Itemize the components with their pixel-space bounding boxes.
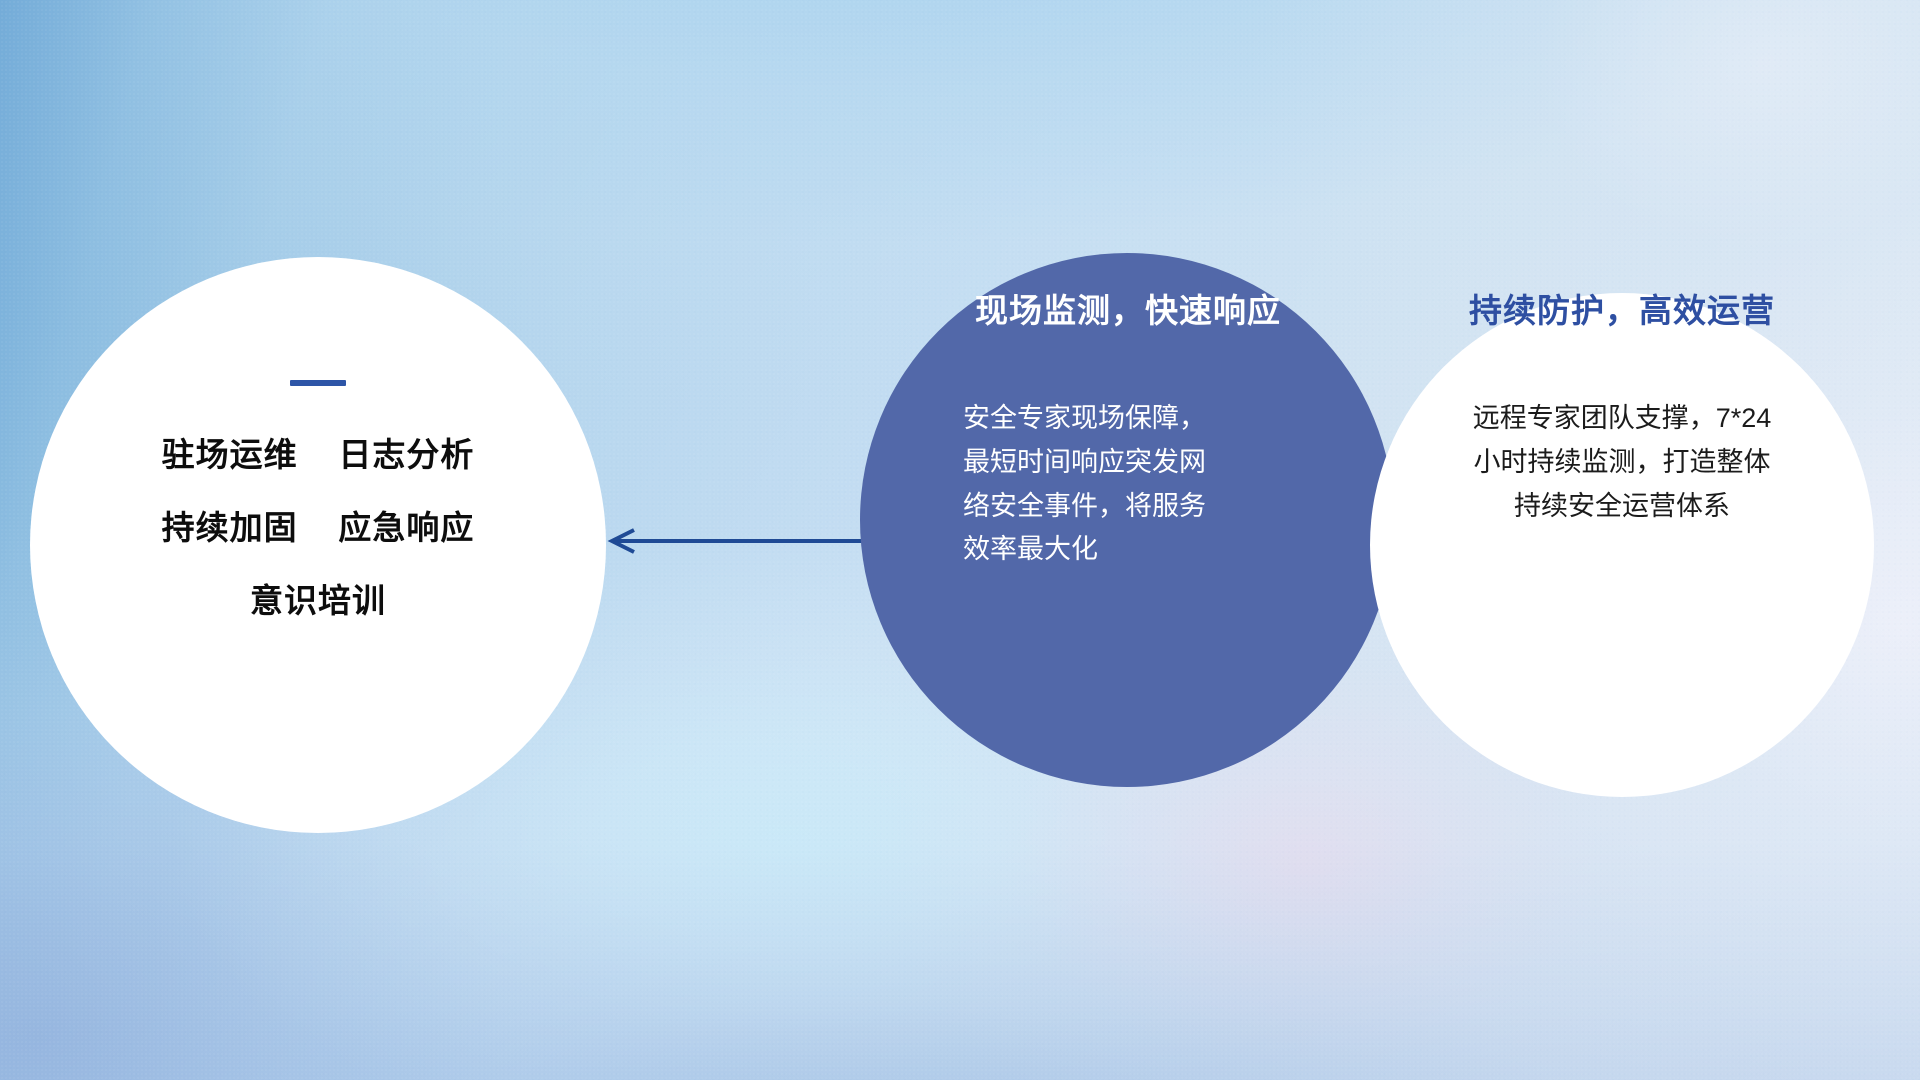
arrow-icon xyxy=(600,528,870,554)
left-pointing-arrow xyxy=(600,528,870,554)
right-body-line-3: 持续安全运营体系 xyxy=(1434,485,1810,529)
capability-line-1: 驻场运维 日志分析 xyxy=(30,438,606,471)
middle-body-line-1: 安全专家现场保障， xyxy=(963,397,1293,441)
right-body-line-2: 小时持续监测，打造整体 xyxy=(1434,441,1810,485)
right-circle-body: 远程专家团队支撑，7*24 小时持续监测，打造整体 持续安全运营体系 xyxy=(1434,397,1810,528)
middle-body-line-2: 最短时间响应突发网 xyxy=(963,441,1293,485)
middle-circle-title: 现场监测，快速响应 xyxy=(888,290,1368,331)
middle-body-line-4: 效率最大化 xyxy=(963,528,1293,572)
middle-circle-content: 现场监测，快速响应 安全专家现场保障， 最短时间响应突发网 络安全事件，将服务 … xyxy=(888,290,1368,572)
blue-dash-divider-icon xyxy=(290,380,346,386)
left-circle-content: 驻场运维 日志分析 持续加固 应急响应 意识培训 xyxy=(30,380,606,617)
slide-canvas: 驻场运维 日志分析 持续加固 应急响应 意识培训 现场监测，快速响应 安全专家现… xyxy=(0,0,1920,1080)
capability-line-3: 意识培训 xyxy=(30,584,606,617)
middle-circle-body: 安全专家现场保障， 最短时间响应突发网 络安全事件，将服务 效率最大化 xyxy=(963,397,1293,572)
right-circle-title: 持续防护，高效运营 xyxy=(1382,290,1862,331)
capability-line-2: 持续加固 应急响应 xyxy=(30,511,606,544)
right-body-line-1: 远程专家团队支撑，7*24 xyxy=(1434,397,1810,441)
right-circle-content: 持续防护，高效运营 远程专家团队支撑，7*24 小时持续监测，打造整体 持续安全… xyxy=(1382,290,1862,528)
middle-body-line-3: 络安全事件，将服务 xyxy=(963,485,1293,529)
